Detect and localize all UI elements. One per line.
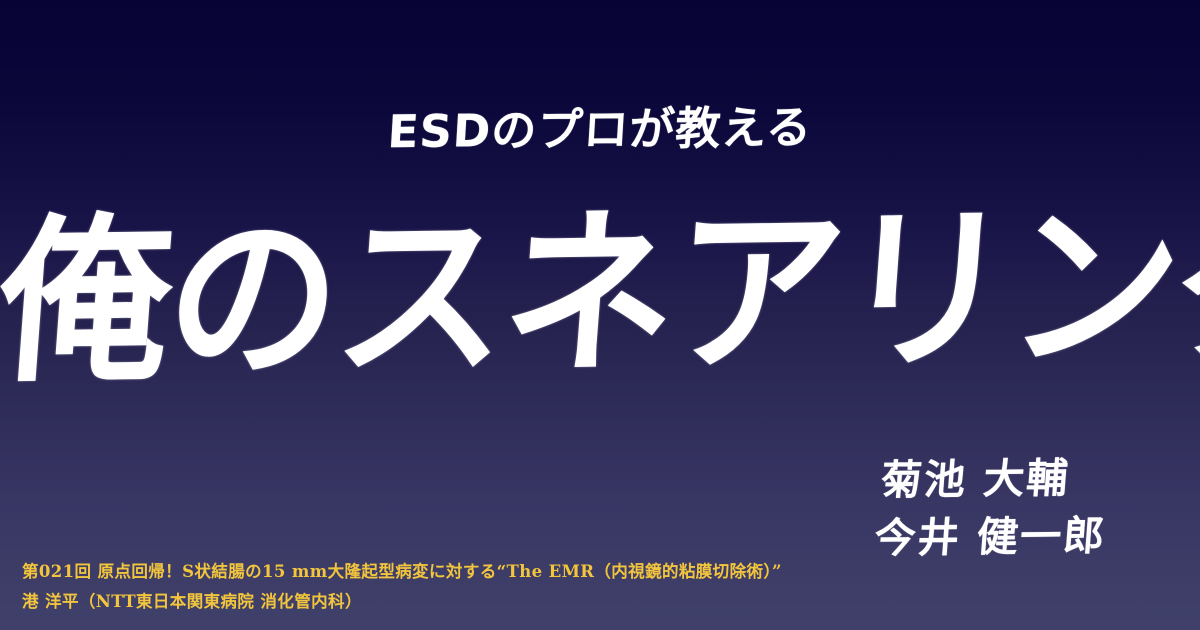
caption-line-author: 港 洋平（NTT東日本関東病院 消化管内科） xyxy=(22,587,782,616)
caption-line-episode: 第021回 原点回帰！S状結腸の15 mm大隆起型病変に対する“The EMR（… xyxy=(22,557,782,586)
presenter-name: 菊池 大輔 xyxy=(879,449,1113,510)
presenter-list: 菊池 大輔 今井 健一郎 xyxy=(874,449,1112,568)
episode-caption: 第021回 原点回帰！S状結腸の15 mm大隆起型病変に対する“The EMR（… xyxy=(22,557,782,616)
video-title-card: ESDのプロが教える 俺のスネアリング 菊池 大輔 今井 健一郎 第021回 原… xyxy=(0,0,1200,630)
subtitle-text: ESDのプロが教える xyxy=(0,100,1200,160)
page-title: 俺のスネアリング xyxy=(0,196,1200,392)
presenter-name: 今井 健一郎 xyxy=(872,507,1108,568)
